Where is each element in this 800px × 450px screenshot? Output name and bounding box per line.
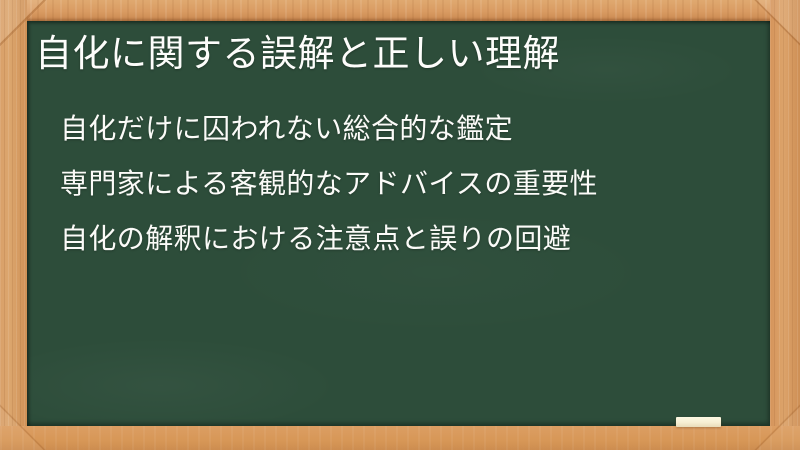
frame-rail-left (0, 0, 27, 450)
chalkboard-slide: 自化に関する誤解と正しい理解 自化だけに囚われない総合的な鑑定 専門家による客観… (0, 0, 800, 450)
bullet-item: 専門家による客観的なアドバイスの重要性 (60, 156, 750, 211)
slide-title: 自化に関する誤解と正しい理解 (35, 31, 560, 77)
chalkboard-surface: 自化に関する誤解と正しい理解 自化だけに囚われない総合的な鑑定 専門家による客観… (27, 21, 770, 426)
bullet-item: 自化だけに囚われない総合的な鑑定 (60, 101, 750, 156)
bullet-list: 自化だけに囚われない総合的な鑑定 専門家による客観的なアドバイスの重要性 自化の… (60, 101, 750, 266)
chalkboard-content: 自化に関する誤解と正しい理解 自化だけに囚われない総合的な鑑定 専門家による客観… (27, 21, 770, 426)
frame-rail-right (770, 0, 800, 450)
bullet-item: 自化の解釈における注意点と誤りの回避 (60, 211, 750, 266)
frame-rail-top (0, 0, 800, 21)
chalk-tray-ledge (0, 426, 800, 450)
